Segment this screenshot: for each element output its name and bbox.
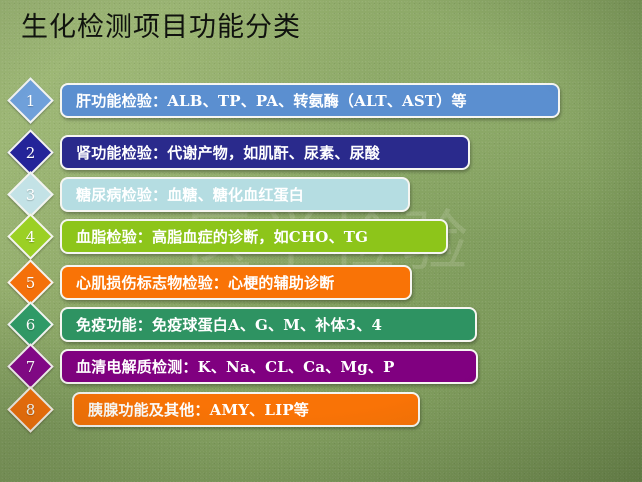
step-diamond-marker bbox=[7, 259, 54, 306]
category-label: 糖尿病检验：血糖、糖化血红蛋白 bbox=[62, 184, 316, 205]
category-bar: 肾功能检验：代谢产物，如肌酐、尿素、尿酸 bbox=[60, 135, 470, 170]
step-diamond-marker bbox=[7, 77, 54, 124]
category-bar: 心肌损伤标志物检验：心梗的辅助诊断 bbox=[60, 265, 412, 300]
step-diamond-marker bbox=[7, 386, 54, 433]
category-bar: 胰腺功能及其他：AMY、LIP等 bbox=[72, 392, 420, 427]
slide-canvas: 医学检验 生化检测项目功能分类 1肝功能检验：ALB、TP、PA、转氨酶（ALT… bbox=[0, 0, 642, 482]
category-label: 肾功能检验：代谢产物，如肌酐、尿素、尿酸 bbox=[62, 142, 392, 163]
category-label: 免疫功能：免疫球蛋白A、G、M、补体3、4 bbox=[62, 314, 394, 335]
category-bar: 免疫功能：免疫球蛋白A、G、M、补体3、4 bbox=[60, 307, 477, 342]
step-diamond-marker bbox=[7, 301, 54, 348]
category-label: 胰腺功能及其他：AMY、LIP等 bbox=[74, 399, 321, 420]
category-label: 血清电解质检测：K、Na、CL、Ca、Mg、P bbox=[62, 356, 407, 377]
category-bar: 肝功能检验：ALB、TP、PA、转氨酶（ALT、AST）等 bbox=[60, 83, 560, 118]
step-diamond-marker bbox=[7, 343, 54, 390]
step-diamond-marker bbox=[7, 129, 54, 176]
category-bar: 血脂检验：高脂血症的诊断，如CHO、TG bbox=[60, 219, 448, 254]
category-label: 肝功能检验：ALB、TP、PA、转氨酶（ALT、AST）等 bbox=[62, 90, 479, 111]
category-label: 心肌损伤标志物检验：心梗的辅助诊断 bbox=[62, 272, 346, 293]
category-bar: 血清电解质检测：K、Na、CL、Ca、Mg、P bbox=[60, 349, 478, 384]
step-diamond-marker bbox=[7, 171, 54, 218]
page-title: 生化检测项目功能分类 bbox=[21, 8, 301, 48]
step-diamond-marker bbox=[7, 213, 54, 260]
category-bar: 糖尿病检验：血糖、糖化血红蛋白 bbox=[60, 177, 410, 212]
category-label: 血脂检验：高脂血症的诊断，如CHO、TG bbox=[62, 226, 380, 247]
